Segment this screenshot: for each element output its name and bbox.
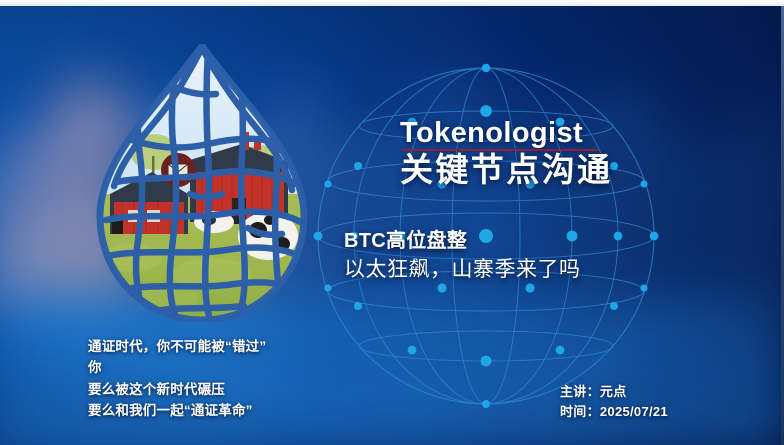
brand-name-en: Tokenologist — [400, 118, 612, 148]
presentation-slide: Tokenologist 关键节点沟通 BTC高位盘整 以太狂飙，山寨季来了吗 … — [0, 0, 784, 445]
slogan-line-2: 你 — [88, 357, 266, 378]
event-date: 时间：2025/07/21 — [560, 402, 668, 422]
slogan-line-4: 要么和我们一起“通证革命” — [88, 400, 266, 421]
subtitle-line-2: 以太狂飙，山寨季来了吗 — [344, 255, 581, 284]
slogan-line-1: 通证时代，你不可能被“错过” — [88, 336, 266, 357]
presenter-name: 主讲：元点 — [560, 382, 668, 402]
top-white-strip — [0, 0, 784, 6]
teardrop-farm-collage-image — [92, 44, 312, 322]
slogan-line-3: 要么被这个新时代碾压 — [88, 379, 266, 400]
brand-name-cn: 关键节点沟通 — [400, 152, 612, 189]
slogan-block: 通证时代，你不可能被“错过” 你 要么被这个新时代碾压 要么和我们一起“通证革命… — [88, 336, 266, 421]
speaker-info-block: 主讲：元点 时间：2025/07/21 — [560, 382, 668, 422]
title-underline-rule — [402, 149, 598, 151]
subtitle-block: BTC高位盘整 以太狂飙，山寨季来了吗 — [344, 228, 581, 284]
title-block: Tokenologist 关键节点沟通 — [400, 118, 612, 189]
subtitle-line-1: BTC高位盘整 — [344, 228, 581, 255]
